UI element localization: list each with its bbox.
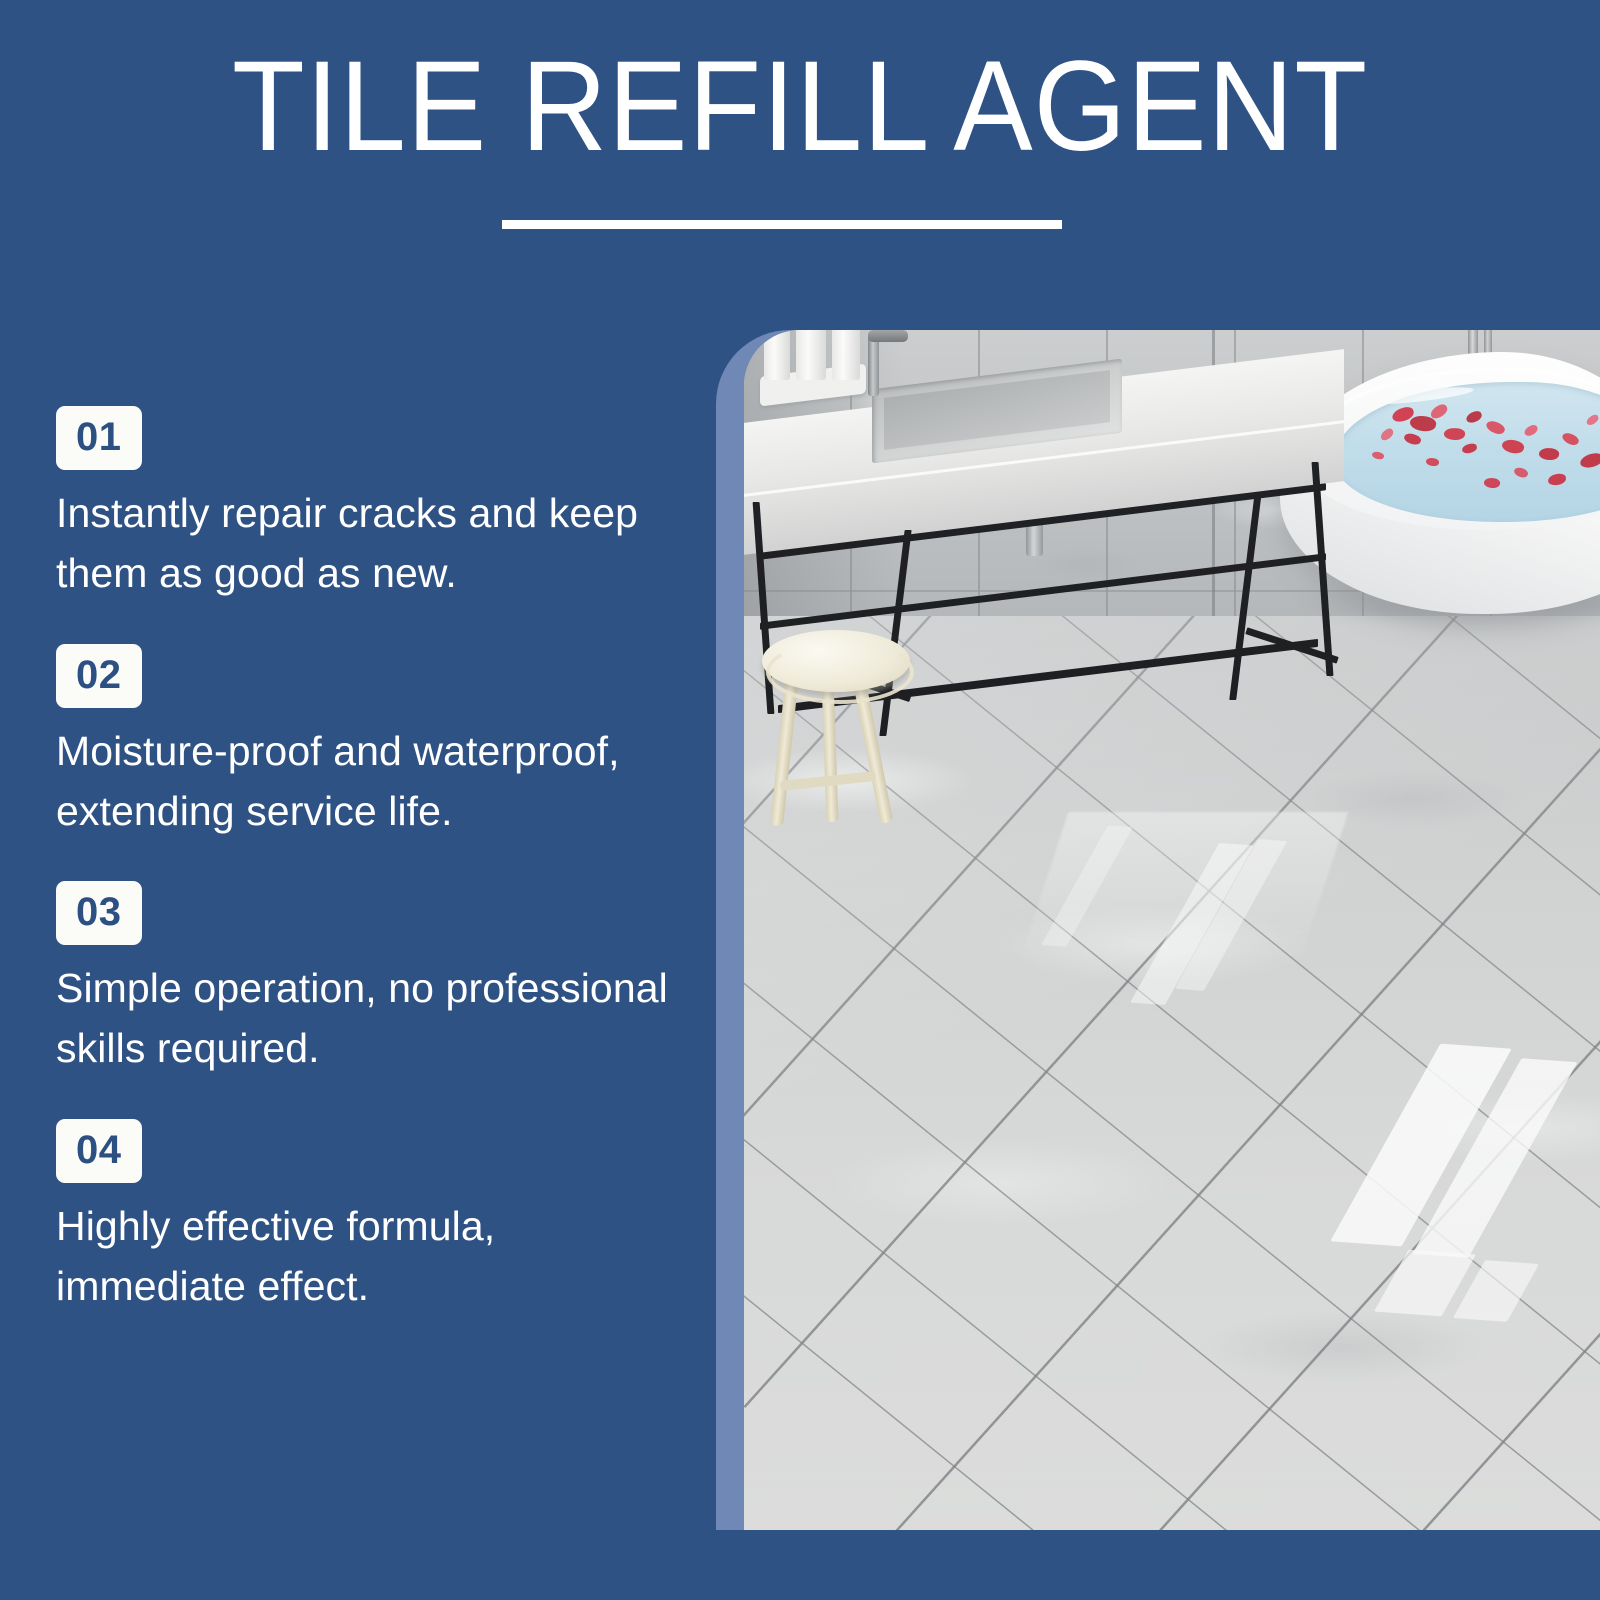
sink-drain-pipe: [1026, 522, 1043, 556]
toiletry-bottle-1: [764, 330, 790, 380]
feature-text-04: Highly effective formula, immediate effe…: [56, 1196, 696, 1317]
feature-list: 01 Instantly repair cracks and keep them…: [56, 406, 696, 1316]
rose-petal: [1579, 452, 1600, 469]
feature-item-03: 03 Simple operation, no professional ski…: [56, 881, 696, 1079]
rose-petal: [1485, 418, 1507, 437]
bathroom-photo: [744, 330, 1600, 1530]
rose-petal: [1538, 447, 1559, 462]
rose-petal: [1585, 413, 1600, 426]
feature-number-badge-01: 01: [56, 406, 142, 470]
rose-petal: [1461, 443, 1477, 454]
title-underline-rule: [502, 220, 1062, 229]
toiletry-bottle-3: [832, 330, 860, 380]
vanity-frame-leg-back-right: [1229, 492, 1262, 700]
rose-petal: [1379, 427, 1396, 442]
page-title: TILE REFILL AGENT: [56, 38, 1544, 176]
rose-petal: [1371, 450, 1385, 460]
stool-seat-rim: [766, 640, 914, 704]
feature-text-01: Instantly repair cracks and keep them as…: [56, 483, 696, 604]
feature-text-03: Simple operation, no professional skills…: [56, 958, 696, 1079]
poster-root: TILE REFILL AGENT 01 Instantly repair cr…: [0, 0, 1600, 1600]
feature-number-badge-02: 02: [56, 644, 142, 708]
feature-number-badge-04: 04: [56, 1119, 142, 1183]
toiletry-bottle-2: [796, 330, 826, 380]
rose-petal: [1501, 437, 1526, 456]
sink-faucet-spout: [868, 330, 908, 342]
feature-item-04: 04 Highly effective formula, immediate e…: [56, 1119, 696, 1317]
bathroom-scene: [744, 330, 1600, 1530]
feature-item-02: 02 Moisture-proof and waterproof, extend…: [56, 644, 696, 842]
rose-petal: [1561, 430, 1581, 447]
rose-petal: [1428, 402, 1449, 420]
rose-petal: [1513, 465, 1530, 479]
header: TILE REFILL AGENT: [0, 0, 1600, 300]
feature-number-badge-03: 03: [56, 881, 142, 945]
wooden-stool: [762, 630, 942, 830]
rose-petal: [1483, 477, 1500, 490]
rose-petal: [1547, 473, 1566, 486]
rose-petal: [1443, 427, 1465, 441]
rose-petal: [1425, 457, 1440, 468]
rose-petal: [1465, 410, 1483, 424]
feature-item-01: 01 Instantly repair cracks and keep them…: [56, 406, 696, 604]
rose-petal: [1403, 431, 1423, 447]
rose-petal: [1523, 424, 1539, 438]
feature-text-02: Moisture-proof and waterproof, extending…: [56, 721, 696, 842]
